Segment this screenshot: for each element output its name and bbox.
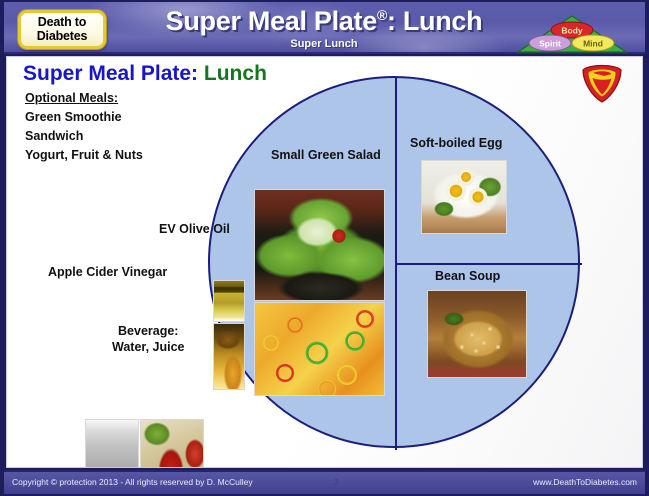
header-subtitle: Super Lunch <box>124 38 524 50</box>
triangle-left-oval-label: Spirit <box>539 39 561 49</box>
header-title-main: Super Meal Plate <box>166 6 377 36</box>
optional-meals-heading: Optional Meals: <box>25 89 143 108</box>
label-small-green-salad: Small Green Salad <box>271 147 381 163</box>
triangle-logo-svg: Body Spirit Mind <box>516 14 628 54</box>
death-to-diabetes-logo[interactable]: Death to Diabetes <box>18 10 106 49</box>
superman-shield-svg <box>579 61 625 105</box>
bell-peppers-photo <box>254 302 385 396</box>
bean-soup-photo <box>427 290 527 378</box>
beverage-label-line1: Beverage: <box>112 323 185 339</box>
triangle-right-oval-label: Mind <box>583 39 603 49</box>
label-beverage: Beverage: Water, Juice <box>112 323 185 356</box>
header-title-suffix: : Lunch <box>387 6 482 36</box>
beverage-label-line2: Water, Juice <box>112 339 185 355</box>
superman-shield-icon <box>579 61 625 105</box>
footer-website-url[interactable]: www.DeathToDiabetes.com <box>533 477 637 487</box>
label-bean-soup: Bean Soup <box>435 268 500 284</box>
body-spirit-mind-triangle-logo[interactable]: Body Spirit Mind <box>516 14 628 54</box>
dtd-logo-line1: Death to <box>38 16 86 29</box>
olive-oil-bottle-photo <box>213 280 245 322</box>
dtd-logo-line2: Diabetes <box>37 30 88 43</box>
label-apple-cider-vinegar: Apple Cider Vinegar <box>48 264 167 280</box>
list-item: Yogurt, Fruit & Nuts <box>25 146 143 165</box>
list-item: Green Smoothie <box>25 108 143 127</box>
tomato-juice-photo <box>140 419 204 468</box>
footer-page-number: 3 <box>334 477 339 487</box>
triangle-top-oval-label: Body <box>561 26 583 36</box>
optional-meals-list: Optional Meals: Green Smoothie Sandwich … <box>25 89 143 165</box>
page-title-primary: Super Meal Plate: <box>23 62 198 85</box>
label-ev-olive-oil: EV Olive Oil <box>159 221 230 237</box>
label-soft-boiled-egg: Soft-boiled Egg <box>410 135 502 151</box>
water-glass-photo <box>85 419 139 468</box>
plate-horizontal-divider <box>396 263 582 265</box>
soft-boiled-egg-photo <box>421 160 507 234</box>
footer-copyright: Copyright © protection 2013 - All rights… <box>12 477 253 487</box>
page-title: Super Meal Plate: Lunch <box>23 62 267 86</box>
slide-body: Super Meal Plate: Lunch Optional Meals: … <box>6 56 643 468</box>
slide-canvas: Death to Diabetes Super Meal Plate®: Lun… <box>0 0 649 496</box>
slide-footer: Copyright © protection 2013 - All rights… <box>4 470 645 494</box>
header-title: Super Meal Plate®: Lunch <box>124 6 524 37</box>
vinegar-pour-photo <box>213 323 245 390</box>
slide-header-band: Death to Diabetes Super Meal Plate®: Lun… <box>4 2 645 54</box>
green-salad-photo <box>254 189 385 301</box>
registered-trademark-icon: ® <box>377 7 387 23</box>
page-title-accent: Lunch <box>204 62 267 85</box>
list-item: Sandwich <box>25 127 143 146</box>
